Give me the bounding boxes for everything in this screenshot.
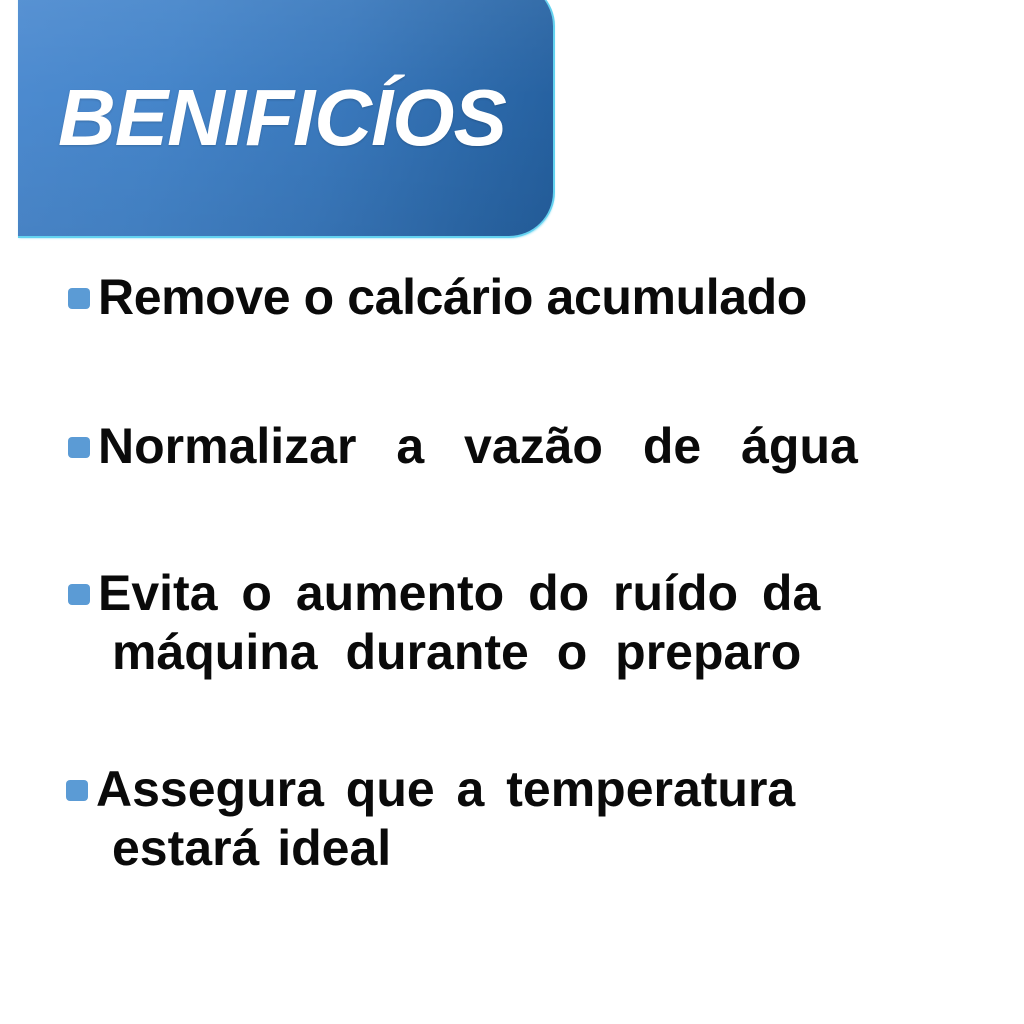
- list-item: Normalizar a vazão de água: [0, 417, 1024, 476]
- list-item-label: Evita o aumento do ruído da: [98, 564, 1024, 623]
- square-bullet-icon: [68, 584, 90, 605]
- list-item-label: Normalizar a vazão de água: [98, 417, 1024, 476]
- list-item-label: Assegura que a temperatura: [96, 760, 1024, 819]
- list-item: Evita o aumento do ruído da máquina dura…: [0, 564, 1024, 682]
- list-item-label-continuation: estará ideal: [112, 819, 1024, 878]
- list-item-label: Remove o calcário acumulado: [98, 268, 1024, 327]
- list-item-label-continuation: máquina durante o preparo: [112, 623, 1024, 682]
- list-item: Assegura que a temperatura estará ideal: [0, 760, 1024, 878]
- benefits-bullet-list: Remove o calcário acumulado Normalizar a…: [0, 268, 1024, 878]
- square-bullet-icon: [68, 437, 90, 458]
- square-bullet-icon: [66, 780, 88, 801]
- list-item: Remove o calcário acumulado: [0, 268, 1024, 327]
- slide-title-banner: BENIFICÍOS: [18, 0, 553, 236]
- square-bullet-icon: [68, 288, 90, 309]
- page-title: BENIFICÍOS: [58, 78, 506, 158]
- presentation-slide: BENIFICÍOS Remove o calcário acumulado N…: [0, 0, 1024, 1024]
